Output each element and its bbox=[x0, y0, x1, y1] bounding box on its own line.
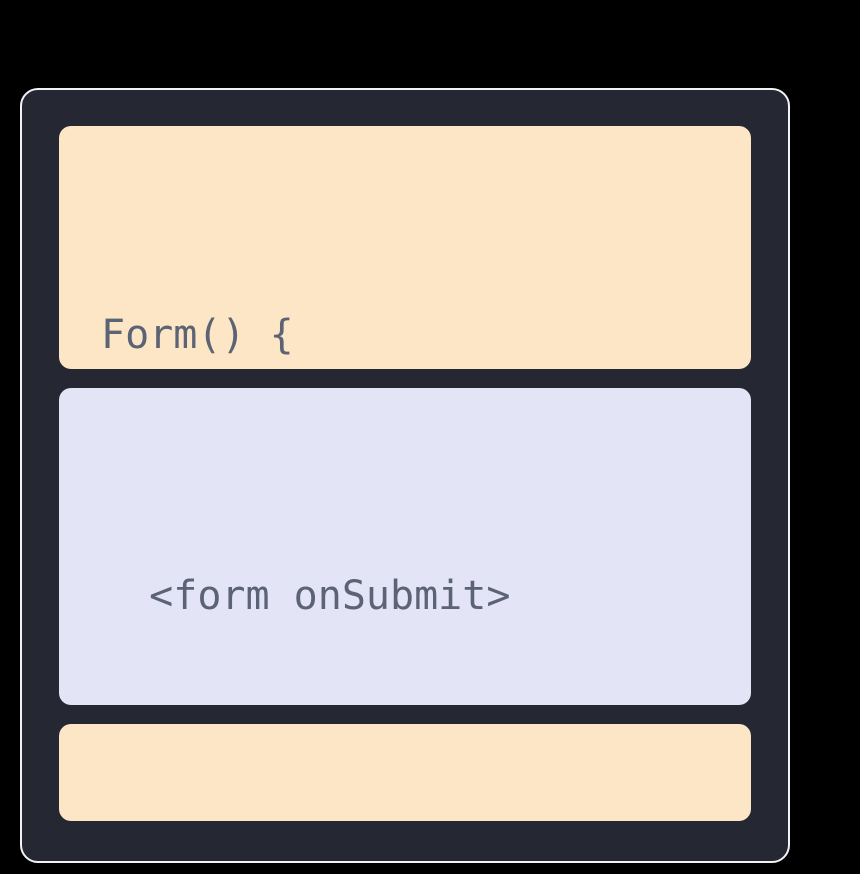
page-root: Form() { onClick() {...} onSubmit() {...… bbox=[0, 0, 860, 874]
code-card-container: Form() { onClick() {...} onSubmit() {...… bbox=[20, 88, 790, 863]
code-block-markup: <form onSubmit> <input onClick /> <input… bbox=[59, 388, 751, 705]
code-line: Form() { bbox=[59, 298, 751, 369]
code-block-component: Form() { onClick() {...} onSubmit() {...… bbox=[59, 126, 751, 369]
code-block-closing: } bbox=[59, 724, 751, 821]
code-line: <form onSubmit> bbox=[59, 559, 751, 633]
